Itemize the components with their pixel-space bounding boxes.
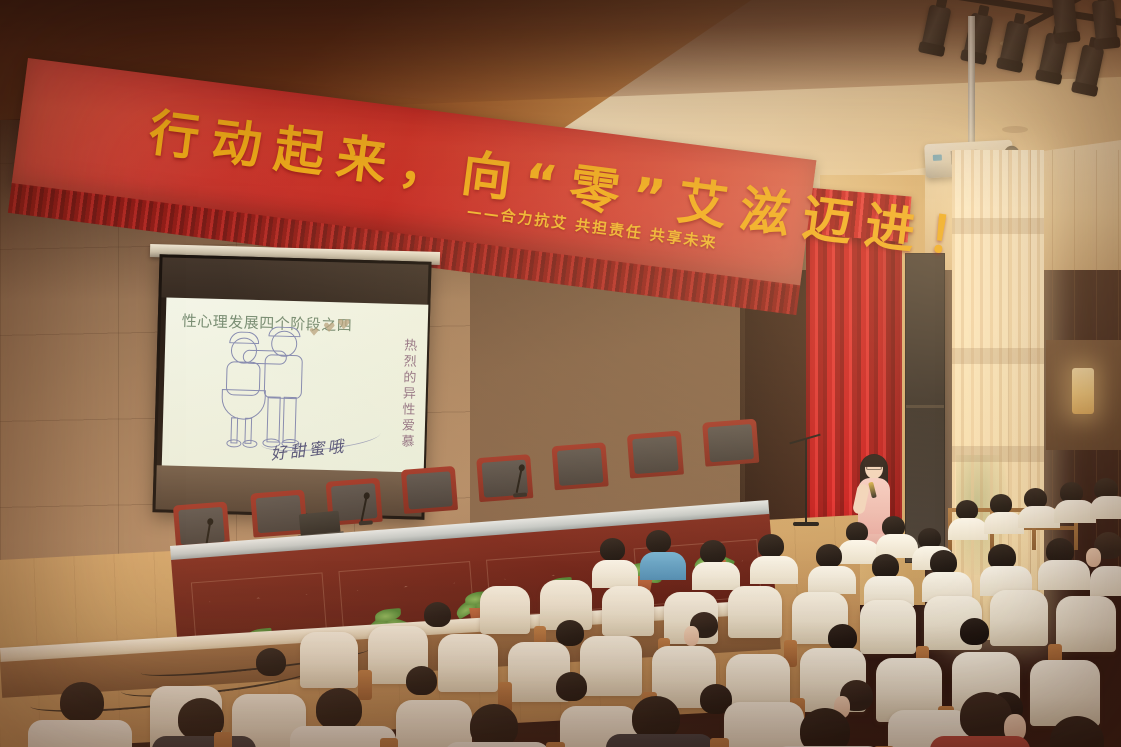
- auditorium-seat: [1056, 596, 1116, 652]
- ceiling-vent: [1002, 126, 1028, 133]
- audience-shoulders: [1090, 496, 1121, 519]
- audience-shoulders: [1038, 560, 1090, 590]
- auditorium-seat: [580, 636, 642, 696]
- audience-shoulders: [28, 720, 132, 747]
- stage-light: [1092, 0, 1119, 47]
- auditorium-seat: [480, 586, 530, 634]
- audience-head: [846, 522, 868, 542]
- seat-armrest: [710, 738, 729, 747]
- auditorium-seat: [602, 586, 654, 636]
- audience-shoulders: [948, 518, 988, 540]
- auditorium-seat: [1030, 660, 1100, 726]
- audience-shoulders: [692, 562, 740, 590]
- figure-hair-girl: [229, 331, 259, 344]
- audience-shoulders: [444, 742, 550, 747]
- heart-icon: [324, 322, 335, 332]
- audience-head: [556, 620, 584, 646]
- seat-armrest: [358, 670, 372, 700]
- heart-icon: [309, 327, 318, 335]
- audience: [0, 470, 1121, 747]
- audience-shoulders: [640, 552, 686, 580]
- auditorium-seat: [728, 586, 782, 638]
- audience-head: [424, 602, 451, 627]
- auditorium-seat: [860, 600, 916, 654]
- audience-head: [700, 540, 726, 564]
- seat-armrest: [214, 732, 232, 747]
- audience-shoulders: [152, 736, 256, 747]
- audience-head: [600, 538, 625, 561]
- audience-head: [470, 704, 518, 747]
- audience-shoulders: [592, 560, 638, 588]
- audience-head: [956, 500, 978, 520]
- slide-vertical-caption: 热烈的异性爱慕: [396, 338, 418, 450]
- audience-head: [800, 708, 850, 747]
- projector-mount-pole: [968, 16, 975, 148]
- audience-shoulders: [930, 736, 1030, 747]
- auditorium-seat: [396, 700, 472, 747]
- seat-armrest: [546, 742, 565, 747]
- auditorium-photo: 行动起来，向“零”艾滋迈进！ ——合力抗艾 共担责任 共享未来 性心理发展四个阶…: [0, 0, 1121, 747]
- audience-head: [256, 648, 286, 676]
- audience-shoulders: [750, 556, 798, 584]
- audience-head: [316, 688, 362, 730]
- presentation-slide: 性心理发展四个阶段之四 热烈的异性爱慕: [162, 297, 429, 476]
- figure-shoe-girl: [226, 439, 241, 447]
- audience-shoulders: [808, 566, 856, 594]
- audience-head: [816, 544, 842, 568]
- audience-shoulders: [606, 734, 714, 747]
- auditorium-seat: [438, 634, 498, 692]
- audience-head: [556, 672, 587, 701]
- audience-head: [406, 666, 437, 695]
- audience-head: [60, 682, 104, 722]
- audience-shoulders: [1090, 566, 1121, 596]
- auditorium-seat: [724, 702, 804, 747]
- audience-head: [990, 494, 1012, 514]
- head-table-chair: [702, 419, 759, 467]
- audience-face: [684, 626, 699, 646]
- audience-head: [960, 618, 989, 645]
- seat-armrest: [380, 738, 398, 747]
- figure-skirt-girl: [221, 389, 266, 420]
- audience-head: [828, 624, 857, 651]
- auditorium-seat: [990, 590, 1048, 646]
- wall-sconce-light: [1072, 368, 1094, 414]
- figure-arm: [243, 350, 287, 365]
- projector-indicator-light: [933, 154, 942, 160]
- stage-light: [1052, 0, 1079, 41]
- audience-head: [646, 530, 671, 553]
- figure-cap-boy: [268, 326, 300, 337]
- auditorium-seat: [300, 632, 358, 688]
- audience-head: [758, 534, 784, 558]
- figure-shoe-girl: [242, 440, 257, 448]
- audience-face: [1086, 548, 1101, 567]
